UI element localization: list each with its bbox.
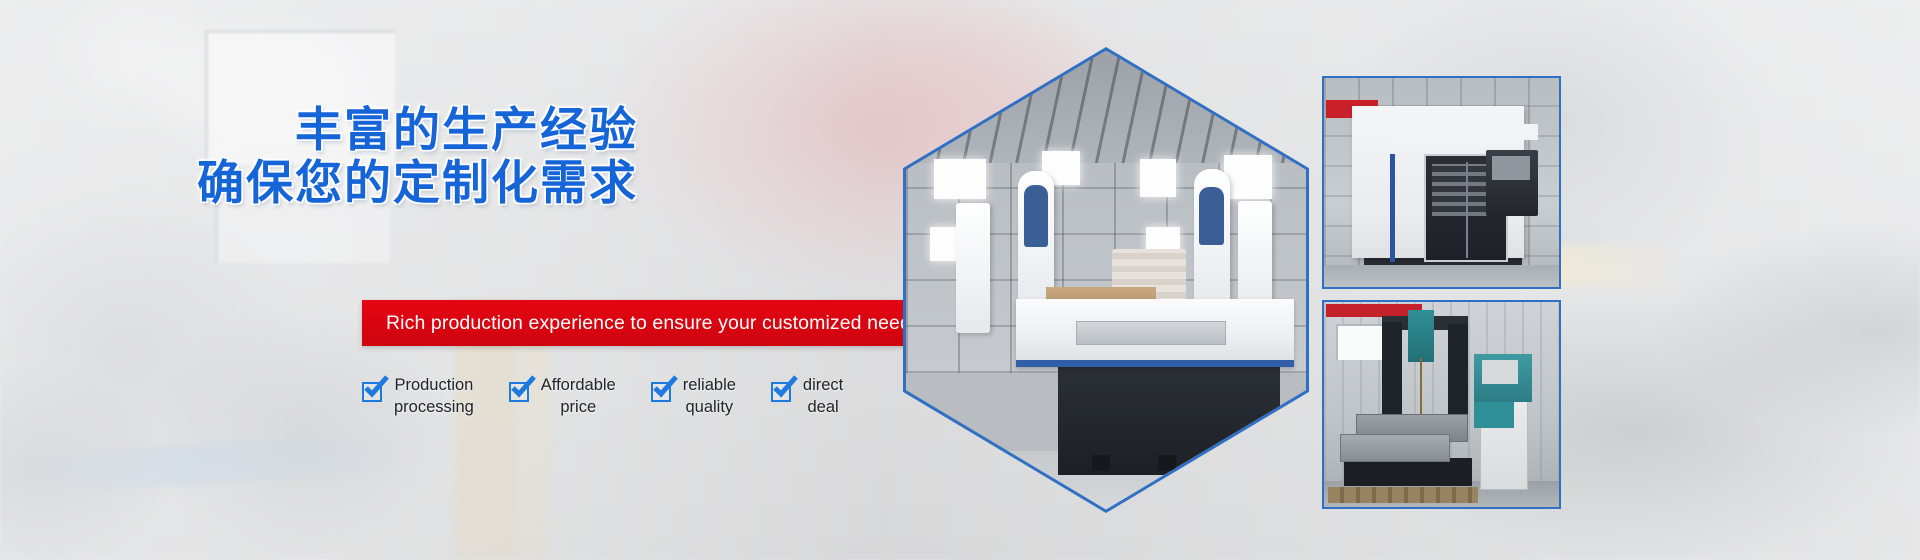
feature-item-direct-deal[interactable]: direct deal	[771, 375, 843, 419]
feature-label: Affordable price	[541, 375, 616, 419]
feature-label: direct deal	[803, 375, 843, 419]
thumbnail-wire-cut-edm-machine[interactable]	[1322, 300, 1561, 509]
headline-line-1: 丰富的生产经验	[0, 104, 638, 157]
feature-item-production-processing[interactable]: Production processing	[362, 375, 474, 419]
checkbox-checked-icon	[651, 382, 671, 402]
thumbnail-hd-320-machining-center[interactable]	[1322, 76, 1561, 289]
feature-item-affordable-price[interactable]: Affordable price	[509, 375, 616, 419]
subheadline-red-banner: Rich production experience to ensure you…	[362, 300, 907, 346]
hexagon-machine-photo[interactable]	[903, 47, 1309, 513]
hexagon-image-content	[906, 51, 1306, 510]
checkbox-checked-icon	[771, 382, 791, 402]
feature-item-reliable-quality[interactable]: reliable quality	[651, 375, 736, 419]
checkbox-checked-icon	[362, 382, 382, 402]
feature-label: reliable quality	[683, 375, 736, 419]
headline-line-2: 确保您的定制化需求	[0, 157, 638, 210]
hero-banner: 丰富的生产经验 确保您的定制化需求 Rich production experi…	[0, 0, 1920, 560]
hero-headline: 丰富的生产经验 确保您的定制化需求	[0, 104, 860, 210]
feature-list: Production processing Affordable price r…	[362, 375, 843, 419]
subheadline-text: Rich production experience to ensure you…	[362, 312, 921, 335]
feature-label: Production processing	[394, 375, 474, 419]
checkbox-checked-icon	[509, 382, 529, 402]
